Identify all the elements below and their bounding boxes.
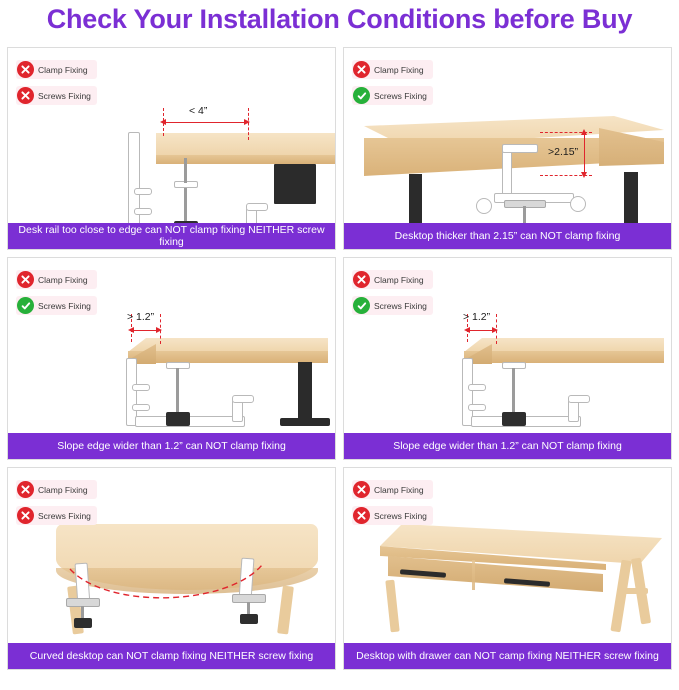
panel-2-caption: Desktop thicker than 2.15” can NOT clamp…: [344, 223, 671, 249]
clamp-hook-upper: [132, 384, 150, 391]
dim-arrowhead-left: [464, 327, 470, 333]
dim-arrow-line: [165, 122, 247, 123]
clamp-screw-shaft: [176, 368, 179, 414]
panel-2-badges: Clamp Fixing Screws Fixing: [352, 60, 433, 105]
badge-screws-fixing: Screws Fixing: [352, 296, 433, 315]
desk-leg-back: [624, 172, 638, 223]
clamp-hook-upper: [134, 188, 152, 195]
cross-circle-icon: [353, 61, 370, 78]
clamp-arm-end-tip: [232, 395, 254, 403]
panel-curved-desktop: Clamp Fixing Screws Fixing Curved deskto…: [7, 467, 336, 670]
clamp-top-plate: [502, 144, 538, 153]
desk-rail-block: [274, 164, 316, 204]
badge-screws-fixing: Screws Fixing: [16, 86, 97, 105]
badge-clamp-fixing-label: Clamp Fixing: [38, 485, 88, 495]
clamp-horizontal-arm: [471, 416, 581, 427]
badge-screws-fixing-label: Screws Fixing: [38, 301, 91, 311]
badge-clamp-fixing: Clamp Fixing: [16, 480, 97, 499]
desk-leg-left: [385, 580, 399, 633]
panel-3-caption: Slope edge wider than 1.2” can NOT clamp…: [8, 433, 335, 459]
badge-clamp-fixing: Clamp Fixing: [16, 270, 97, 289]
panel-3-badges: Clamp Fixing Screws Fixing: [16, 270, 97, 315]
clamp-screw-shaft: [184, 188, 187, 223]
badge-screws-fixing-label: Screws Fixing: [374, 301, 427, 311]
panel-desktop-too-thick: >2.15” Clamp Fixing Screws Fixing Deskto…: [343, 47, 672, 250]
badge-clamp-fixing: Clamp Fixing: [352, 60, 433, 79]
dim-arrowhead-down: [581, 172, 587, 178]
clamp-arm-end-hook: [232, 400, 243, 422]
cross-circle-icon: [353, 507, 370, 524]
desk-leg-right: [277, 586, 294, 635]
clamp-arm-end-hook: [568, 400, 579, 422]
check-circle-icon: [353, 87, 370, 104]
panel-slope-edge-a: > 1.2” Clamp Fixing Screws Fixing Slope …: [7, 257, 336, 460]
dim-label: > 1.2”: [463, 311, 490, 323]
badge-clamp-fixing-label: Clamp Fixing: [374, 65, 424, 75]
dim-arrowhead-left: [128, 327, 134, 333]
check-circle-icon: [17, 297, 34, 314]
badge-clamp-fixing: Clamp Fixing: [352, 480, 433, 499]
cross-circle-icon: [353, 271, 370, 288]
desktop-edge: [464, 351, 664, 363]
curve-indicator-dashed: [66, 563, 266, 611]
panel-slope-edge-b: > 1.2” Clamp Fixing Screws Fixing Slope …: [343, 257, 672, 460]
panel-desk-rail-too-close: < 4” Clamp Fixing Screws Fixing Desk rai…: [7, 47, 336, 250]
badge-screws-fixing: Screws Fixing: [352, 506, 433, 525]
clamp-hook-lower: [468, 404, 486, 411]
badge-clamp-fixing-label: Clamp Fixing: [374, 275, 424, 285]
infographic-page: Check Your Installation Conditions befor…: [0, 0, 679, 690]
panel-grid: < 4” Clamp Fixing Screws Fixing Desk rai…: [7, 47, 672, 684]
badge-screws-fixing: Screws Fixing: [16, 296, 97, 315]
dim-arrowhead-right: [244, 119, 250, 125]
clamp-hook-upper: [468, 384, 486, 391]
badge-screws-fixing-label: Screws Fixing: [374, 91, 427, 101]
clamp-screw-shaft: [523, 206, 526, 223]
cross-circle-icon: [353, 481, 370, 498]
clamp-horizontal-arm: [135, 416, 245, 427]
dim-arrowhead-right: [492, 327, 498, 333]
dim-label: < 4”: [189, 105, 207, 117]
dim-label: > 1.2”: [127, 311, 154, 323]
badge-screws-fixing: Screws Fixing: [352, 86, 433, 105]
badge-clamp-fixing: Clamp Fixing: [16, 60, 97, 79]
clamp-knob: [166, 412, 190, 426]
clamp-hook-lower: [132, 404, 150, 411]
panel-5-caption: Curved desktop can NOT clamp fixing NEIT…: [8, 643, 335, 669]
clamp-upper-shaft: [184, 158, 187, 183]
clamp-left-knob: [74, 618, 92, 628]
clamp-arm-end-tip: [246, 203, 268, 211]
panel-1-badges: Clamp Fixing Screws Fixing: [16, 60, 97, 105]
clamp-vertical-plate: [502, 146, 512, 198]
clamp-knob: [502, 412, 526, 426]
badge-clamp-fixing-label: Clamp Fixing: [374, 485, 424, 495]
clamp-screw-shaft: [512, 368, 515, 414]
panel-1-caption: Desk rail too close to edge can NOT clam…: [8, 223, 335, 249]
panel-4-badges: Clamp Fixing Screws Fixing: [352, 270, 433, 315]
desk-leg-front: [409, 174, 422, 223]
dim-arrowhead-up: [581, 129, 587, 135]
panel-5-badges: Clamp Fixing Screws Fixing: [16, 480, 97, 525]
clamp-hook-lower: [134, 208, 152, 215]
panel-6-badges: Clamp Fixing Screws Fixing: [352, 480, 433, 525]
cross-circle-icon: [17, 87, 34, 104]
desk-top-edge: [156, 155, 335, 164]
dim-arrowhead-right: [156, 327, 162, 333]
wheel-right: [570, 196, 586, 212]
dim-arrow-line: [584, 134, 585, 173]
badge-clamp-fixing-label: Clamp Fixing: [38, 65, 88, 75]
badge-clamp-fixing: Clamp Fixing: [352, 270, 433, 289]
badge-clamp-fixing-label: Clamp Fixing: [38, 275, 88, 285]
cross-circle-icon: [17, 507, 34, 524]
panel-desktop-with-drawer: Clamp Fixing Screws Fixing Desktop with …: [343, 467, 672, 670]
drawer-divider: [472, 560, 475, 590]
desk-leg: [298, 362, 312, 422]
badge-screws-fixing-label: Screws Fixing: [374, 511, 427, 521]
badge-screws-fixing-label: Screws Fixing: [38, 91, 91, 101]
cross-circle-icon: [17, 271, 34, 288]
badge-screws-fixing: Screws Fixing: [16, 506, 97, 525]
page-title: Check Your Installation Conditions befor…: [0, 4, 679, 35]
panel-6-caption: Desktop with drawer can NOT camp fixing …: [344, 643, 671, 669]
clamp-right-knob: [240, 614, 258, 624]
wheel-left: [476, 198, 492, 214]
cross-circle-icon: [17, 61, 34, 78]
desk-leg-right-rear: [610, 560, 631, 633]
clamp-arm-end-tip: [568, 395, 590, 403]
cross-circle-icon: [17, 481, 34, 498]
desk-foot: [280, 418, 330, 426]
badge-screws-fixing-label: Screws Fixing: [38, 511, 91, 521]
desktop-side-face: [599, 128, 664, 176]
desk-top-surface: [156, 133, 335, 155]
desktop-surface: [128, 338, 328, 352]
dim-arrowhead-left: [160, 119, 166, 125]
dim-label: >2.15”: [548, 146, 578, 158]
check-circle-icon: [353, 297, 370, 314]
desk-leg-brace: [622, 588, 648, 594]
desktop-surface: [464, 338, 664, 352]
panel-4-caption: Slope edge wider than 1.2” can NOT clamp…: [344, 433, 671, 459]
